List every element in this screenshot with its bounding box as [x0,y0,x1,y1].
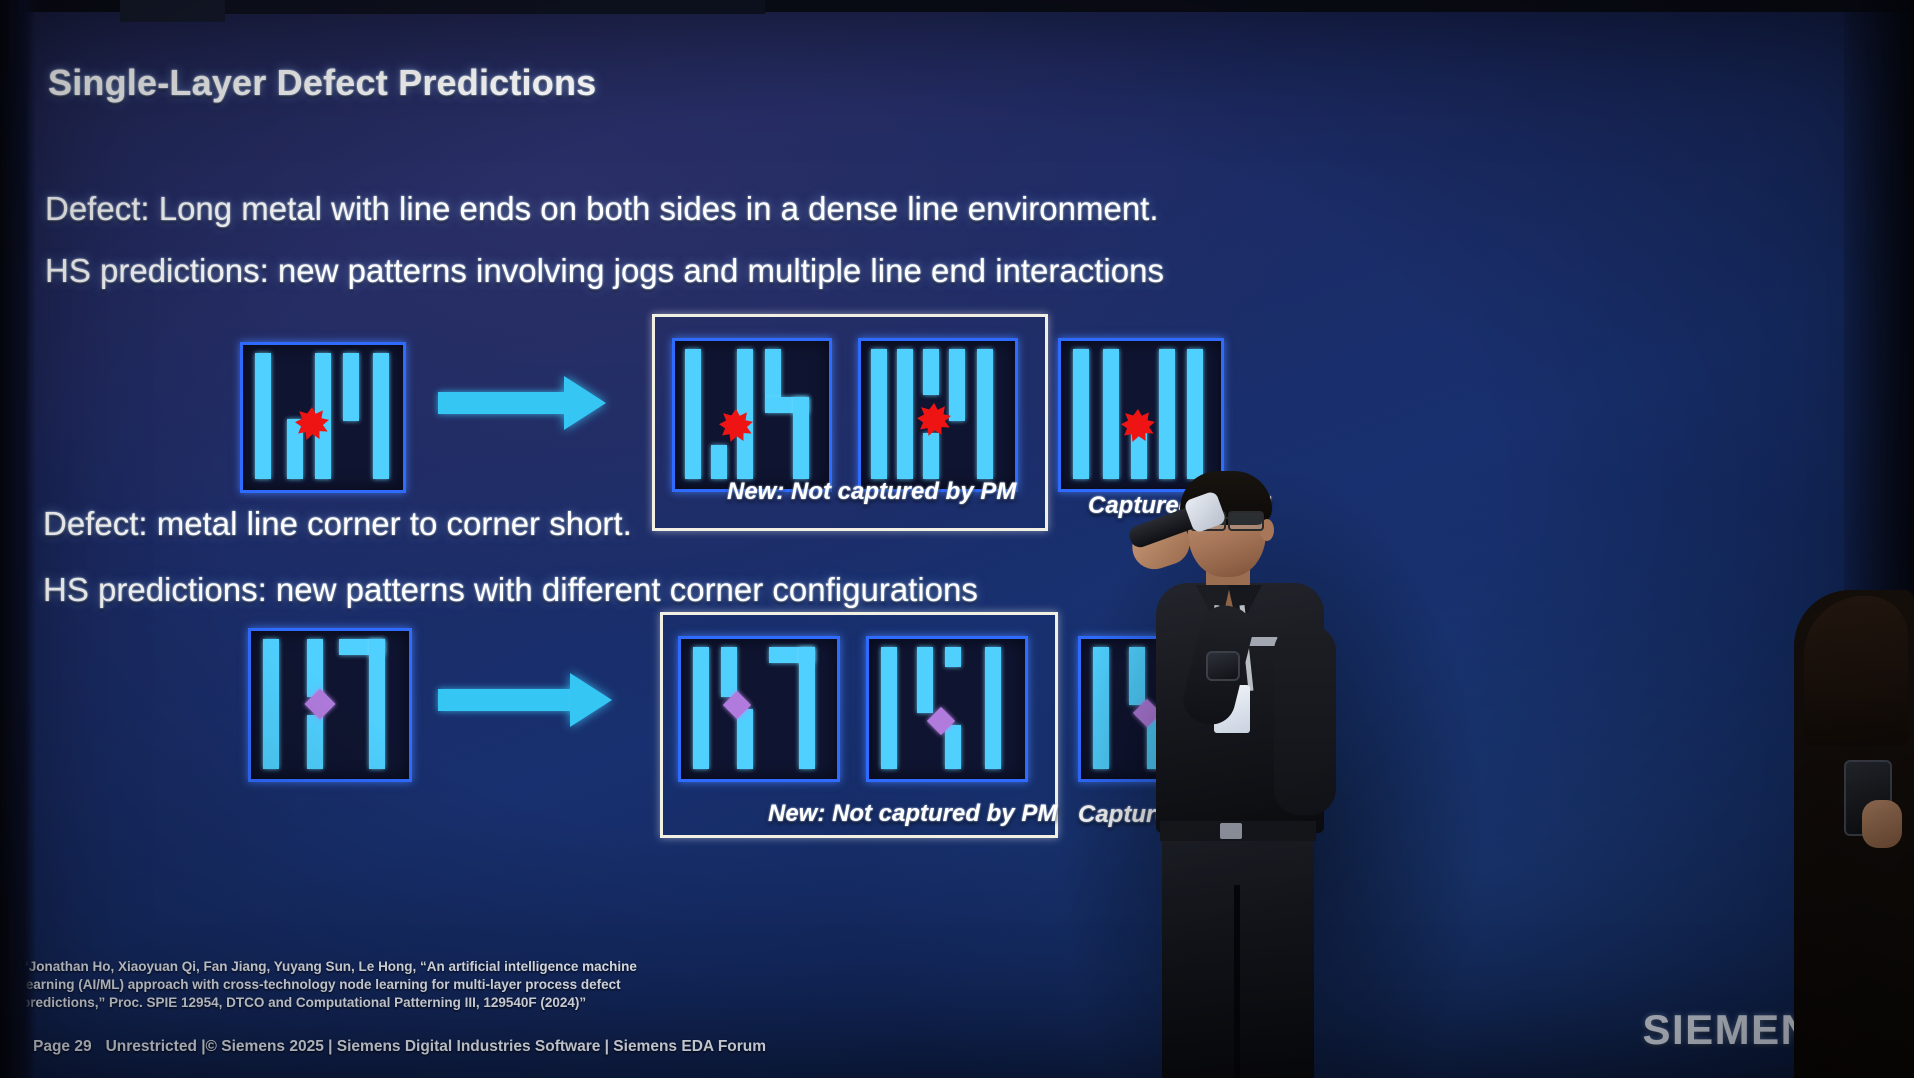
caption-new-2: New: Not captured by PM [768,800,1057,828]
source-pattern-1 [240,342,406,493]
metal-bar [765,349,781,397]
citation-text: “Jonathan Ho, Xiaoyuan Qi, Fan Jiang, Yu… [22,958,662,1011]
speaker-leg-split [1234,885,1240,1078]
source-pattern-2 [248,628,412,782]
screen-left-edge [0,0,36,1078]
slide-surface: Single-Layer Defect Predictions Defect: … [0,8,1914,1078]
slide-title: Single-Layer Defect Predictions [48,62,596,104]
audience-hand [1862,800,1902,848]
hs-prediction-2: HS predictions: new patterns with differ… [43,571,978,609]
metal-bar [945,647,961,667]
speaker-glasses-right-lens [1228,511,1264,531]
metal-bar [737,709,753,769]
metal-bar [881,647,897,769]
footer-legal: Unrestricted |© Siemens 2025 | Siemens D… [106,1038,766,1055]
caption-new-1: New: Not captured by PM [727,478,1016,506]
screen-top-notch [120,0,225,22]
slide-footer: Page 29Unrestricted |© Siemens 2025 | Si… [33,1038,766,1056]
speaker-person [1140,455,1370,1078]
metal-bar [985,647,1001,769]
metal-bar [793,397,809,479]
metal-bar [977,349,993,479]
metal-bar [871,349,887,479]
metal-bar [255,353,271,479]
new-pattern-1b [858,338,1018,492]
defect-description-2: Defect: metal line corner to corner shor… [43,505,632,543]
new-pattern-2a [678,636,840,782]
metal-bar [343,353,359,421]
defect-description-1: Defect: Long metal with line ends on bot… [45,190,1159,228]
metal-bar [923,433,939,479]
metal-bar [263,639,279,769]
metal-bar [373,353,389,479]
metal-bar [685,349,701,479]
metal-bar [897,349,913,479]
new-pattern-2b [866,636,1028,782]
metal-bar [799,647,815,769]
speaker-belt-buckle [1220,823,1242,839]
metal-bar [917,647,933,713]
metal-bar [1103,349,1119,479]
page-number: Page 29 [33,1038,92,1055]
speaker-right-arm [1274,625,1336,815]
hs-prediction-1: HS predictions: new patterns involving j… [45,252,1164,290]
screen-top-notch-2 [225,0,765,14]
metal-bar [721,647,737,697]
presentation-photo: Single-Layer Defect Predictions Defect: … [0,0,1914,1078]
defect-burst-icon [917,403,951,437]
metal-bar [945,725,961,769]
metal-bar [693,647,709,769]
metal-bar [711,445,727,479]
metal-bar [369,639,385,769]
metal-bar [949,349,965,421]
metal-bar [923,349,939,395]
metal-bar [1073,349,1089,479]
new-pattern-1a [672,338,832,492]
audience-person-hair [1804,596,1908,746]
speaker-smartwatch [1206,651,1240,681]
metal-bar [307,715,323,769]
